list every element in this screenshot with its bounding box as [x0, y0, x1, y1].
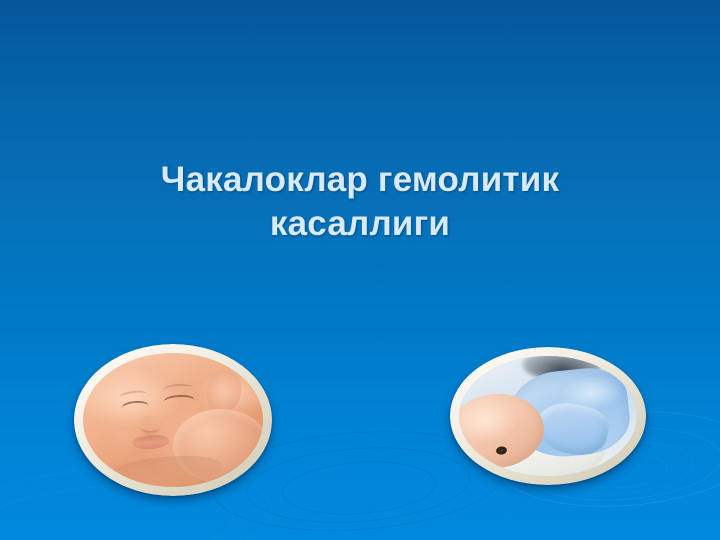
baby-in-blue-outfit-photo — [450, 347, 646, 485]
sleeping-newborn-photo — [74, 344, 272, 496]
baby-eye-left — [467, 454, 479, 463]
newborn-blue-outfit-image — [459, 356, 637, 476]
baby-brow-right — [163, 383, 193, 390]
title-line-2: касаллиги — [58, 202, 662, 246]
baby-nose — [139, 415, 161, 431]
baby-brow-left — [119, 389, 147, 397]
title-line-1: Чакалоклар гемолитик — [58, 158, 662, 202]
baby-eye-left — [121, 400, 149, 408]
oval-photo-inner-right — [459, 356, 637, 476]
presentation-slide: Чакалоклар гемолитик касаллиги — [0, 0, 720, 540]
baby-chin-fold — [102, 451, 224, 487]
newborn-sleeping-image — [83, 353, 263, 487]
oval-photo-inner-left — [83, 353, 263, 487]
page-title: Чакалоклар гемолитик касаллиги — [58, 158, 662, 247]
baby-eye-right — [496, 446, 508, 455]
baby-eye-right — [163, 394, 195, 402]
